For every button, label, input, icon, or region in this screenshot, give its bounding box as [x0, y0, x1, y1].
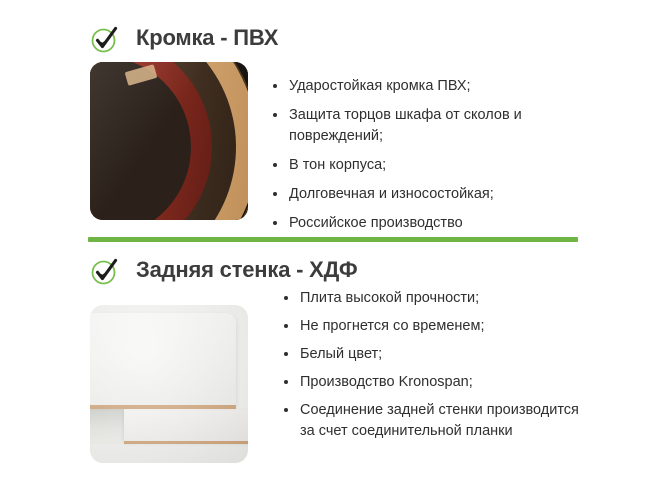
check-circle-icon: [88, 254, 122, 288]
section-divider: [88, 237, 578, 242]
product-image-pvh: [90, 62, 248, 220]
list-item: Не прогнется со временем;: [283, 316, 583, 337]
list-item: Белый цвет;: [283, 344, 583, 365]
section-title-pvh: Кромка - ПВХ: [136, 27, 278, 51]
hdf-boards-illustration: [90, 305, 248, 463]
list-item: В тон корпуса;: [272, 155, 572, 176]
section-title-hdf: Задняя стенка - ХДФ: [136, 259, 357, 283]
section-header-hdf: Задняя стенка - ХДФ: [88, 254, 357, 288]
image-vignette-overlay: [90, 305, 248, 463]
list-item: Производство Kronospan;: [283, 372, 583, 393]
feature-list-hdf: Плита высокой прочности; Не прогнется со…: [283, 288, 583, 449]
image-gloss-overlay: [90, 62, 248, 220]
list-item: Плита высокой прочности;: [283, 288, 583, 309]
list-item: Защита торцов шкафа от сколов и поврежде…: [272, 105, 572, 147]
product-image-hdf: [90, 305, 248, 463]
section-header-pvh: Кромка - ПВХ: [88, 22, 278, 56]
list-item: Российское производство: [272, 213, 572, 234]
list-item: Долговечная и износостойкая;: [272, 184, 572, 205]
check-circle-icon: [88, 22, 122, 56]
product-features-page: Кромка - ПВХ Ударостойкая кромка ПВХ; За…: [0, 0, 652, 500]
feature-list-pvh: Ударостойкая кромка ПВХ; Защита торцов ш…: [272, 76, 572, 242]
list-item: Соединение задней стенки производится за…: [283, 400, 583, 442]
list-item: Ударостойкая кромка ПВХ;: [272, 76, 572, 97]
pvc-edge-banding-illustration: [90, 62, 248, 220]
